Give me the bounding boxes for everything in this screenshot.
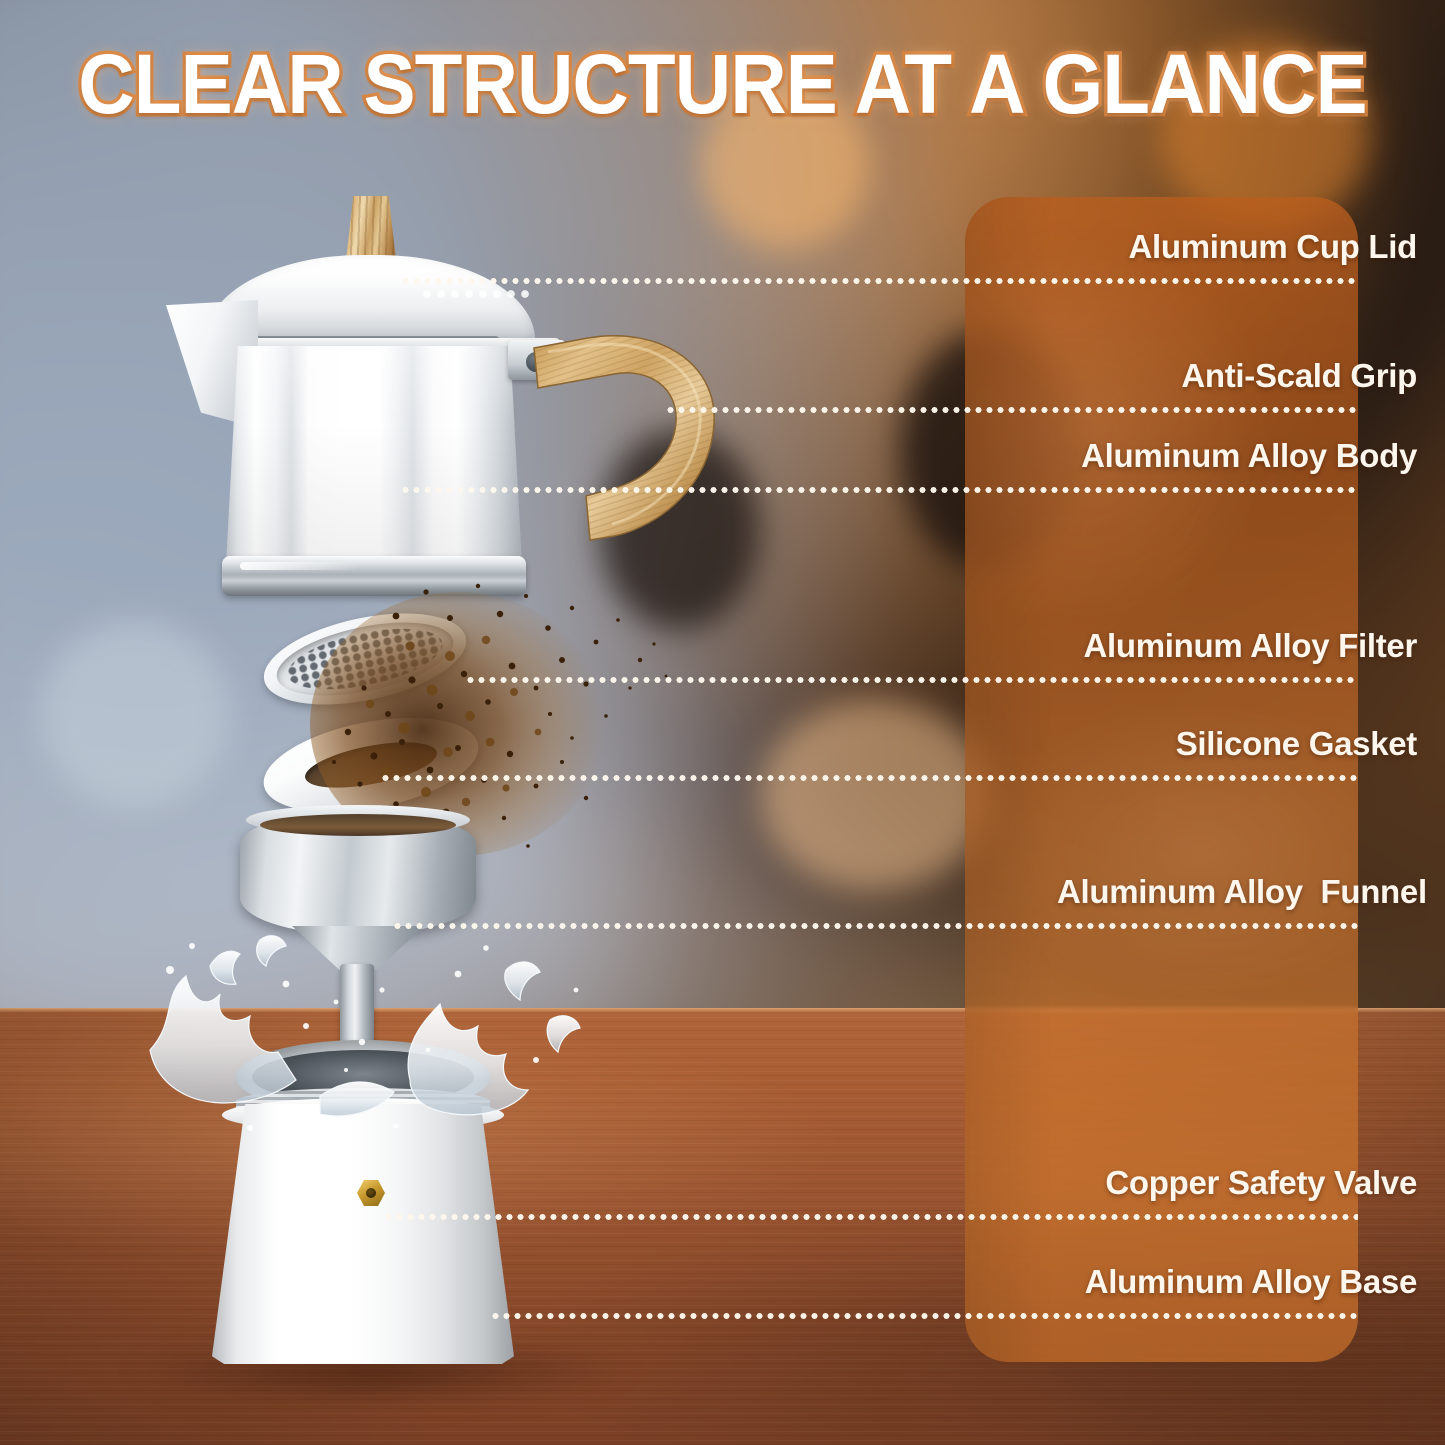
- gasket-aperture: [302, 734, 441, 797]
- page-title: CLEAR STRUCTURE AT A GLANCE: [51, 42, 1395, 126]
- aluminum-alloy-funnel: [240, 812, 476, 934]
- callout-label-gasket[interactable]: Silicone Gasket: [1057, 727, 1417, 760]
- callout-label-valve[interactable]: Copper Safety Valve: [1057, 1166, 1417, 1199]
- valve-port: [366, 1188, 376, 1198]
- leader-line-valve: [383, 1214, 1358, 1220]
- aluminum-alloy-body: [226, 346, 522, 564]
- body-ring-highlight: [240, 562, 360, 570]
- bokeh-light: [40, 620, 230, 810]
- bokeh-light: [760, 700, 990, 890]
- lid-vent-holes-icon: [420, 290, 530, 298]
- leader-line-body: [400, 487, 1358, 493]
- aluminum-alloy-base: [212, 1104, 514, 1364]
- callout-label-lid[interactable]: Aluminum Cup Lid: [1057, 230, 1417, 263]
- leader-line-base: [490, 1313, 1358, 1319]
- copper-safety-valve: [357, 1180, 385, 1206]
- callout-label-filter[interactable]: Aluminum Alloy Filter: [1057, 629, 1417, 662]
- leader-line-lid: [400, 278, 1358, 284]
- leader-line-funnel: [392, 923, 1358, 929]
- callout-label-grip[interactable]: Anti-Scald Grip: [1057, 359, 1417, 392]
- callout-label-body[interactable]: Aluminum Alloy Body: [1057, 439, 1417, 472]
- callout-label-base[interactable]: Aluminum Alloy Base: [1057, 1265, 1417, 1298]
- leader-line-grip: [665, 407, 1358, 413]
- leader-line-filter: [465, 677, 1358, 683]
- infographic-canvas: CLEAR STRUCTURE AT A GLANCE: [0, 0, 1445, 1445]
- callout-label-funnel[interactable]: Aluminum Alloy Funnel: [1057, 875, 1417, 908]
- leader-line-gasket: [380, 775, 1358, 781]
- anti-scald-grip: [528, 290, 728, 542]
